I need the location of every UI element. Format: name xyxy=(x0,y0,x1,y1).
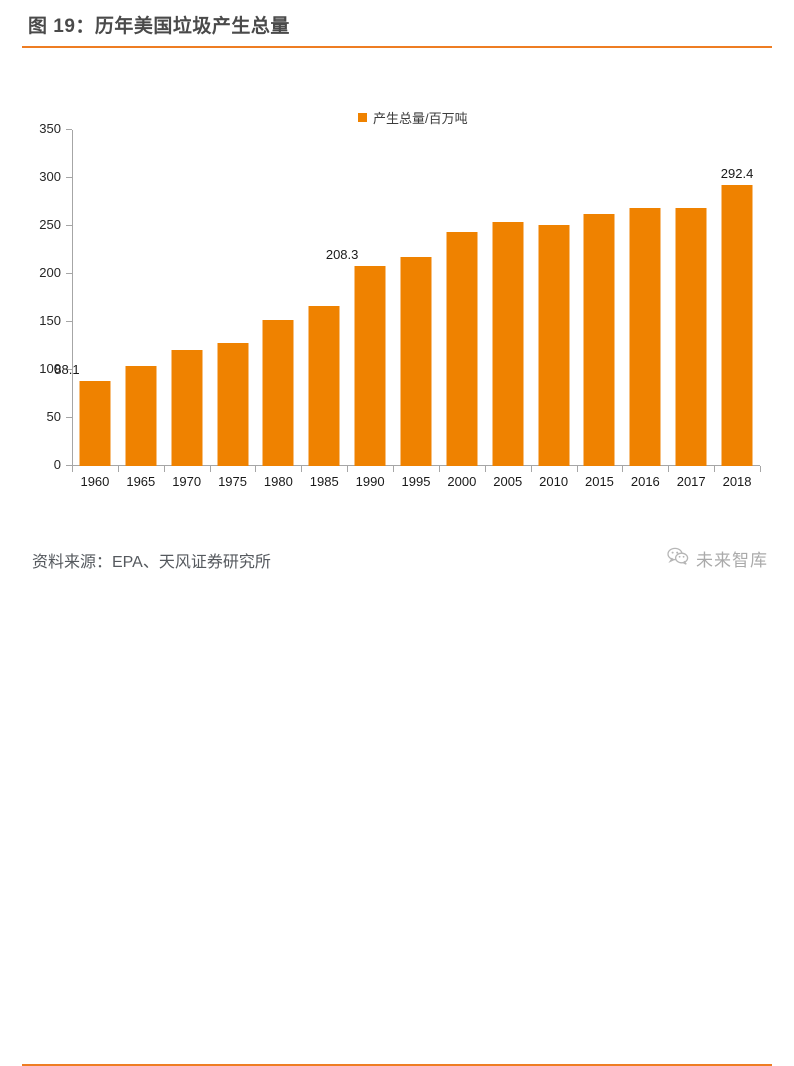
legend-swatch-icon xyxy=(358,113,367,122)
figure-footer: 资料来源：EPA、天风证券研究所 未来智库 xyxy=(0,532,794,589)
x-tick xyxy=(714,466,715,472)
x-axis-label: 1970 xyxy=(172,474,201,489)
bar[interactable] xyxy=(355,266,386,466)
x-axis-label: 2017 xyxy=(677,474,706,489)
y-tick-label: 350 xyxy=(39,121,61,136)
x-tick xyxy=(577,466,578,472)
x-tick xyxy=(393,466,394,472)
bar[interactable] xyxy=(676,208,707,466)
x-axis-labels: 1960196519701975198019851990199520002005… xyxy=(72,474,760,496)
bar-value-label: 292.4 xyxy=(721,166,754,181)
x-tick xyxy=(439,466,440,472)
y-tick-label: 150 xyxy=(39,313,61,328)
source-note: 资料来源：EPA、天风证券研究所 xyxy=(32,548,271,572)
x-axis-label: 2015 xyxy=(585,474,614,489)
bar-slot[interactable]: 88.1 xyxy=(72,130,118,466)
bar-slot[interactable] xyxy=(668,130,714,466)
x-tick xyxy=(72,466,73,472)
bar[interactable] xyxy=(263,320,294,466)
x-axis-label: 1980 xyxy=(264,474,293,489)
x-tick xyxy=(210,466,211,472)
bar-slot[interactable] xyxy=(439,130,485,466)
x-tick xyxy=(255,466,256,472)
bar-value-label: 208.3 xyxy=(326,247,359,262)
x-tick xyxy=(531,466,532,472)
bar[interactable] xyxy=(125,366,156,466)
chart-panel: 产生总量/百万吨 050100150200250300350 88.1208.3… xyxy=(0,48,794,532)
bar[interactable] xyxy=(722,185,753,466)
x-axis-label: 1985 xyxy=(310,474,339,489)
x-tick xyxy=(118,466,119,472)
x-tick xyxy=(164,466,165,472)
y-tick-label: 200 xyxy=(39,265,61,280)
bar[interactable] xyxy=(79,381,110,466)
bar-slot[interactable] xyxy=(118,130,164,466)
legend-item-label: 产生总量/百万吨 xyxy=(373,108,468,127)
page-title: 图 19：历年美国垃圾产生总量 xyxy=(28,11,290,38)
x-axis-label: 1990 xyxy=(356,474,385,489)
bar-slot[interactable] xyxy=(210,130,256,466)
bar[interactable] xyxy=(630,208,661,466)
x-axis-label: 1960 xyxy=(80,474,109,489)
bar[interactable] xyxy=(492,222,523,466)
plot-area: 050100150200250300350 88.1208.3292.4 xyxy=(72,130,760,466)
bar-slot[interactable]: 208.3 xyxy=(347,130,393,466)
bar-slot[interactable] xyxy=(301,130,347,466)
x-tick xyxy=(622,466,623,472)
x-axis-label: 1975 xyxy=(218,474,247,489)
x-axis-label: 1965 xyxy=(126,474,155,489)
bar[interactable] xyxy=(171,350,202,466)
x-tick xyxy=(485,466,486,472)
bar[interactable] xyxy=(309,306,340,466)
chart-legend: 产生总量/百万吨 xyxy=(358,108,468,127)
x-axis-label: 2005 xyxy=(493,474,522,489)
y-tick-label: 50 xyxy=(47,409,61,424)
bar-slot[interactable]: 292.4 xyxy=(714,130,760,466)
x-axis-label: 1995 xyxy=(402,474,431,489)
y-tick-label: 300 xyxy=(39,169,61,184)
bar-series: 88.1208.3292.4 xyxy=(72,130,760,466)
x-axis-label: 2010 xyxy=(539,474,568,489)
watermark-label: 未来智库 xyxy=(696,546,768,571)
bar-slot[interactable] xyxy=(622,130,668,466)
x-axis-label: 2016 xyxy=(631,474,660,489)
bar[interactable] xyxy=(400,257,431,466)
bar-slot[interactable] xyxy=(531,130,577,466)
y-tick-label: 0 xyxy=(54,457,61,472)
bar[interactable] xyxy=(584,214,615,466)
figure-header: 图 19：历年美国垃圾产生总量 xyxy=(0,0,794,48)
x-tick xyxy=(760,466,761,472)
watermark: 未来智库 xyxy=(667,546,768,571)
x-tick xyxy=(347,466,348,472)
bar[interactable] xyxy=(538,225,569,466)
bar[interactable] xyxy=(217,343,248,466)
bar-slot[interactable] xyxy=(164,130,210,466)
bar-value-label: 88.1 xyxy=(54,362,79,377)
bar-slot[interactable] xyxy=(577,130,623,466)
x-axis-label: 2000 xyxy=(447,474,476,489)
bar-slot[interactable] xyxy=(255,130,301,466)
x-axis-label: 2018 xyxy=(723,474,752,489)
x-tick xyxy=(301,466,302,472)
bar-slot[interactable] xyxy=(485,130,531,466)
bar[interactable] xyxy=(446,232,477,466)
y-tick-label: 250 xyxy=(39,217,61,232)
wechat-icon xyxy=(667,547,689,570)
x-tick xyxy=(668,466,669,472)
bar-slot[interactable] xyxy=(393,130,439,466)
